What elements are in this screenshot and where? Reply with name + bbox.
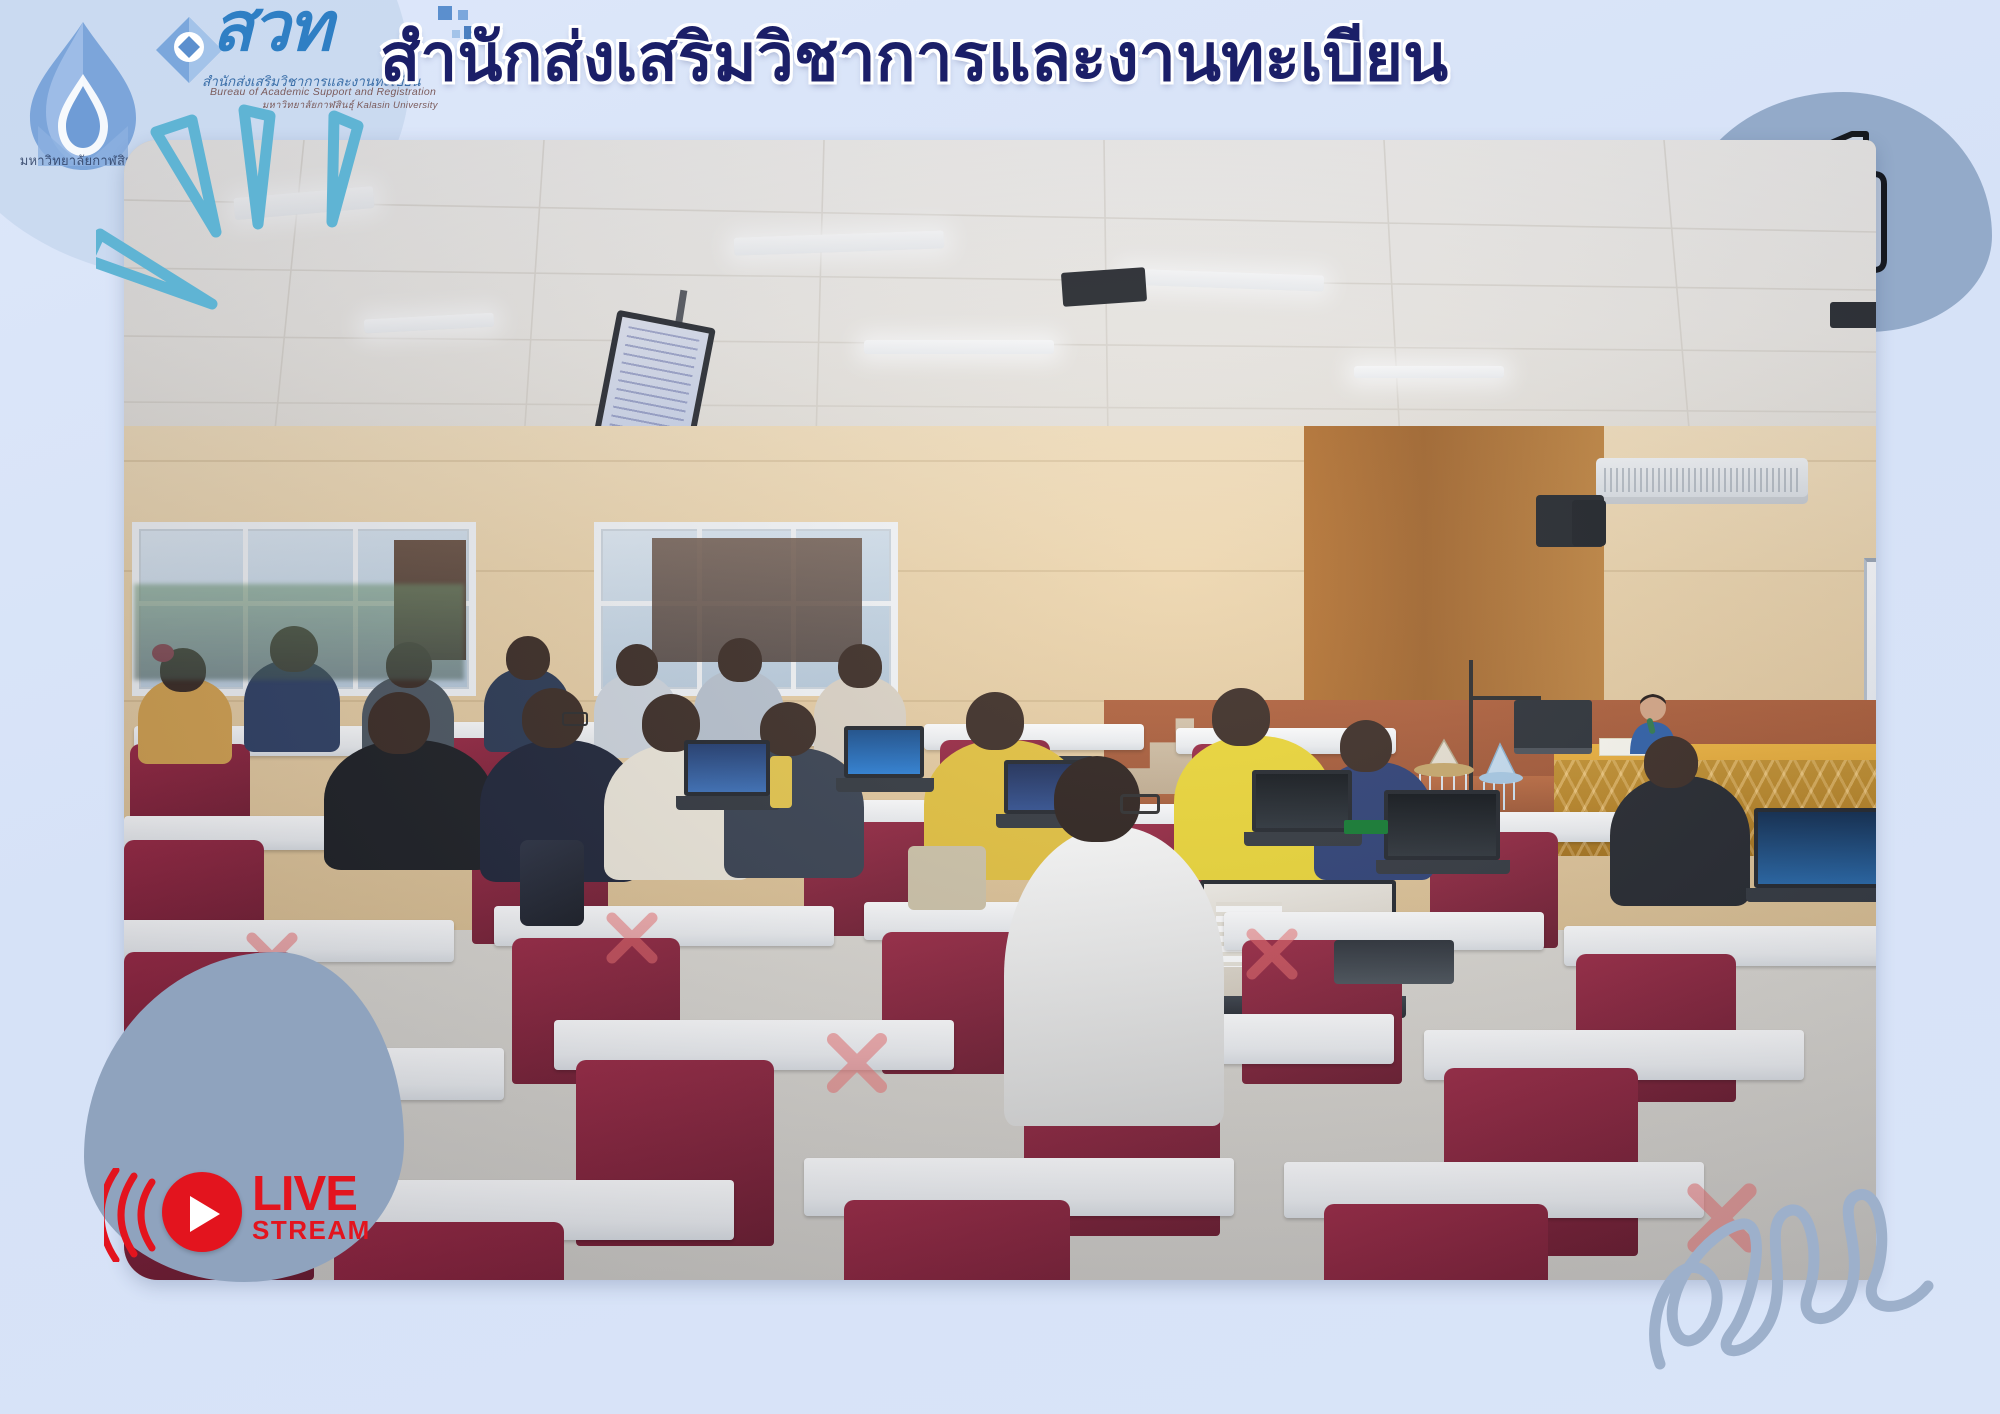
ceiling-monitor-secondary [1061,267,1147,307]
desk-x-marker [824,1030,890,1096]
glasses [1120,794,1160,814]
window-interior-dark [652,538,862,662]
attendee [324,740,494,870]
play-triangle [190,1196,220,1232]
attendee-head [1340,720,1392,772]
attendee-head [966,692,1024,750]
logo-wordmark: สวท [212,0,331,62]
live-stream-text: LIVE STREAM [252,1172,371,1244]
laptop [844,726,924,778]
desk-x-marker [604,910,660,966]
poster-canvas: มหาวิทยาลัยกาฬสินธุ์ สวท สำนักส่งเสริมวิ… [0,0,2000,1414]
attendee [1610,776,1750,906]
laptop-closed [1334,940,1454,984]
attendee-foreground [1004,826,1224,1126]
backpack [520,840,584,926]
attendee-head [1644,736,1698,788]
page-title: สำนักส่งเสริมวิชาการและงานทะเบียน [380,14,1700,100]
stream-label: STREAM [252,1216,371,1244]
attendee-head [506,636,550,680]
ceiling-monitor-tertiary [1830,302,1876,328]
handbag [908,846,986,910]
attendee-head [838,644,882,688]
petal-doodle-icon [96,92,396,322]
attendee-head [616,644,658,686]
attendee-head [368,692,430,754]
laptop [1384,790,1500,860]
laptop [684,740,770,796]
live-stream-badge[interactable]: LIVE STREAM [112,1158,392,1266]
laptop [1754,808,1876,888]
ceiling-light [1354,366,1504,378]
ac-vents [1604,468,1800,492]
glasses [562,712,588,726]
water-bottle [770,756,792,808]
live-label: LIVE [252,1172,371,1216]
laptop-brand-logo [1344,820,1388,834]
attendee-head [1212,688,1270,746]
footer: f สำนักส่งเสริมวิชาการและงานทะเบียน มหาว… [0,1288,2000,1388]
broadcast-waves-icon [104,1168,164,1262]
background-crowd [134,584,464,680]
laptop [1252,770,1352,832]
attendee-head [718,638,762,682]
desk-x-marker [1244,926,1300,982]
ceiling-light [864,340,1054,354]
wall-speaker [1572,500,1606,546]
